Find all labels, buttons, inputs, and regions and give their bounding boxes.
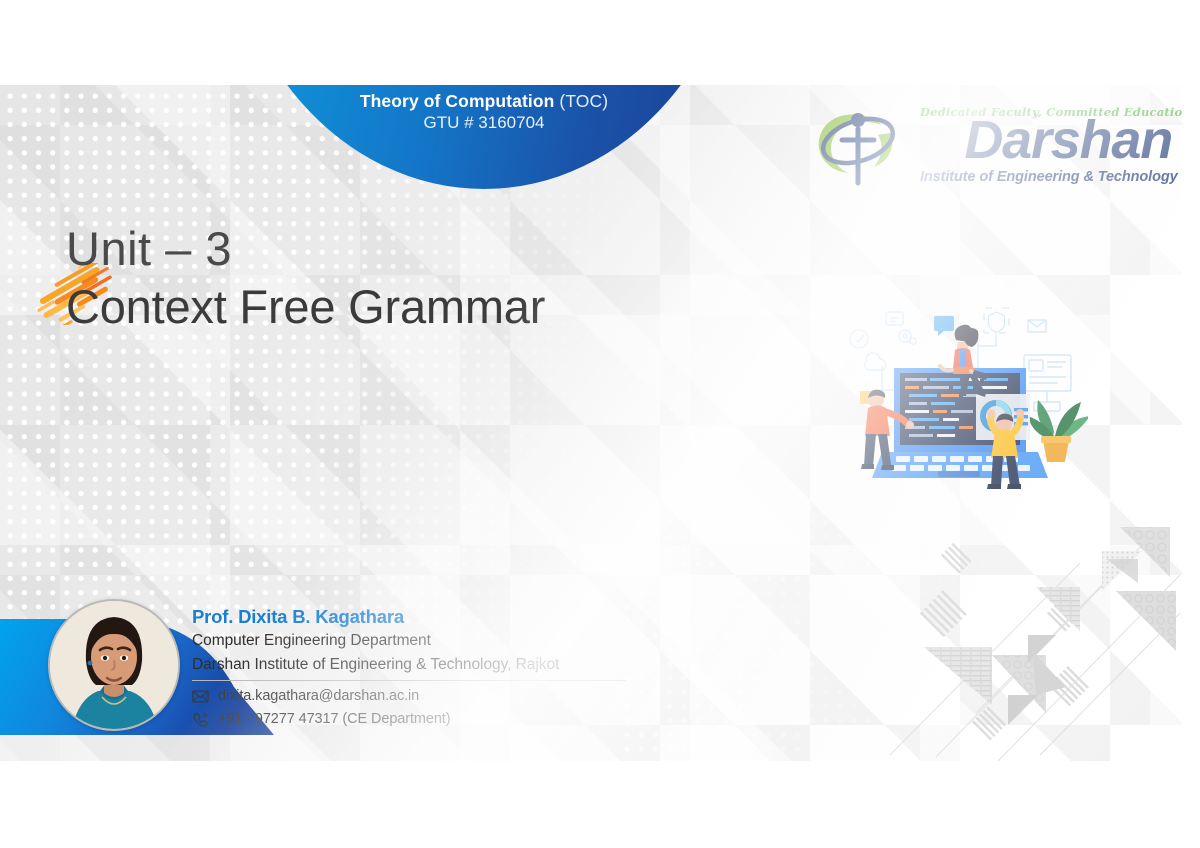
avatar — [48, 599, 180, 731]
unit-label: Unit – 3 — [66, 222, 706, 276]
presenter-email-row[interactable]: dixita.kagathara@darshan.ac.in — [192, 688, 652, 704]
presenter-department: Computer Engineering Department — [192, 629, 652, 653]
presenter-institute: Darshan Institute of Engineering & Techn… — [192, 653, 652, 677]
presenter-phone-row[interactable]: +91 - 97277 47317 (CE Department) — [192, 711, 652, 727]
course-abbreviation: (TOC) — [559, 91, 608, 111]
presenter-phone: +91 - 97277 47317 (CE Department) — [218, 711, 450, 727]
presentation-slide: Theory of Computation (TOC) GTU # 316070… — [0, 85, 1182, 761]
page-title: Context Free Grammar — [66, 280, 706, 335]
course-title: Theory of Computation — [360, 91, 555, 111]
presenter-email: dixita.kagathara@darshan.ac.in — [218, 688, 419, 704]
presenter-divider — [192, 680, 626, 681]
slide-title-block: Unit – 3 Context Free Grammar — [66, 222, 706, 334]
course-title-line: Theory of Computation (TOC) — [224, 91, 744, 111]
darshan-emblem-icon — [812, 107, 908, 187]
telephone-icon — [192, 712, 209, 727]
subject-code: GTU # 3160704 — [224, 113, 744, 133]
header-title-group: Theory of Computation (TOC) GTU # 316070… — [224, 91, 744, 133]
brand-name: Darshan — [920, 113, 1172, 167]
presenter-info: Prof. Dixita B. Kagathara Computer Engin… — [192, 605, 652, 727]
laptop-coding-teamwork-illustration-icon — [838, 298, 1088, 498]
presenter-name: Prof. Dixita B. Kagathara — [192, 605, 652, 629]
brand-subtitle: Institute of Engineering & Technology — [920, 169, 1172, 185]
gray-triangles-pattern-icon — [880, 505, 1182, 761]
darshan-logo: Dedicated Faculty, Committed Education D… — [812, 105, 1174, 191]
envelope-icon — [192, 689, 209, 704]
